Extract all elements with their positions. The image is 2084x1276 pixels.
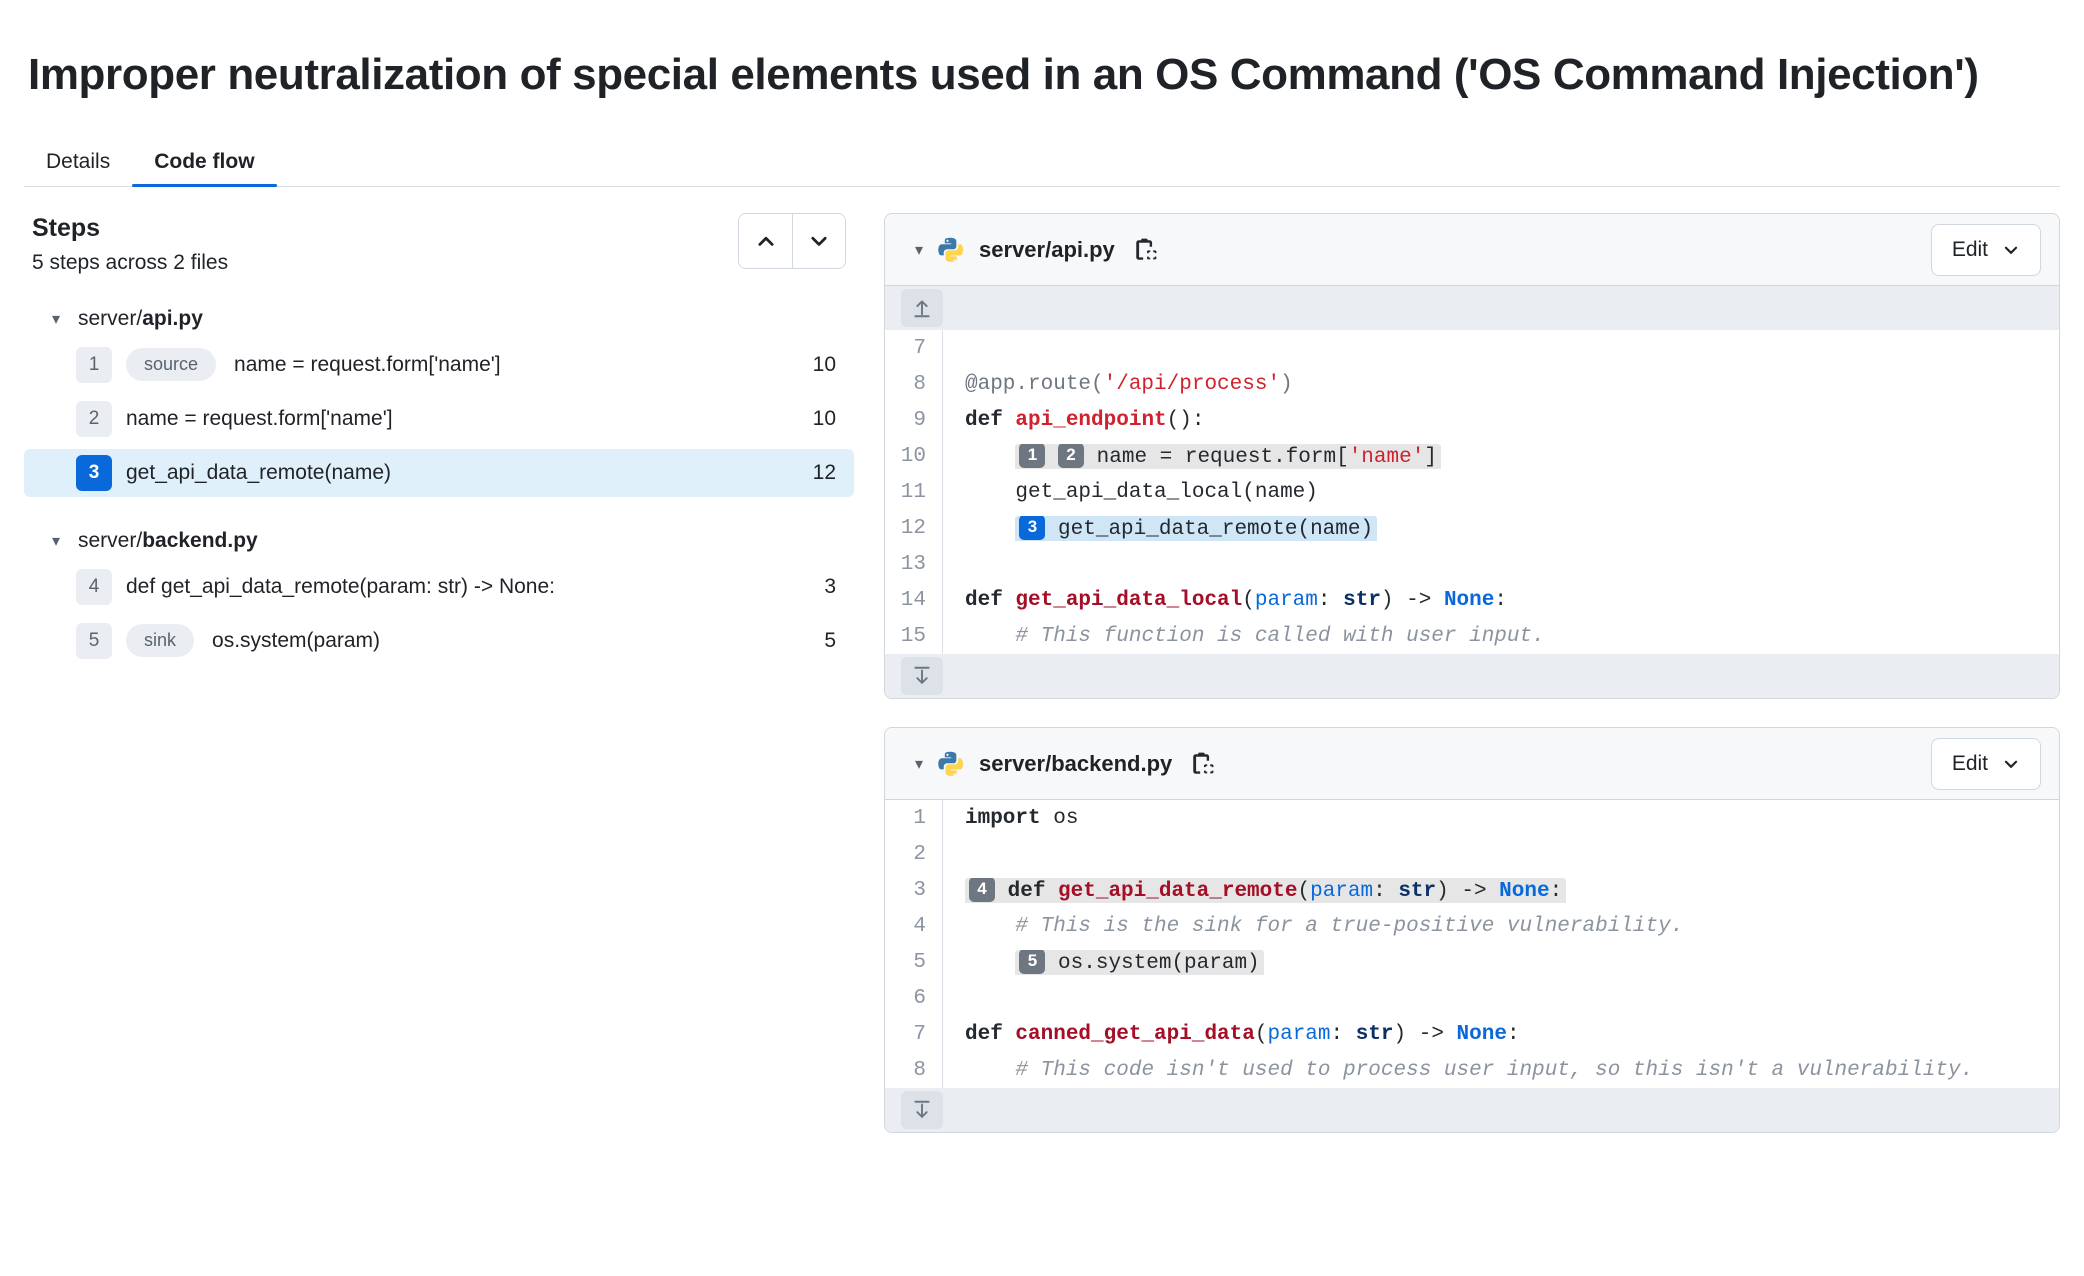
step-row[interactable]: 1 source name = request.form['name'] 10 — [24, 341, 854, 389]
scroll-to-top-icon — [911, 297, 933, 319]
code-line-step-5[interactable]: 5 5 os.system(param) — [885, 944, 2059, 980]
step-code-text: name = request.form['name'] — [126, 407, 801, 431]
step-row-selected[interactable]: 3 get_api_data_remote(name) 12 — [24, 449, 854, 497]
line-number: 7 — [885, 330, 943, 366]
steps-title: Steps — [32, 213, 228, 244]
step-file-header-api[interactable]: ▾ server/api.py — [24, 303, 854, 335]
line-number: 1 — [885, 800, 943, 836]
step-code-text: def get_api_data_remote(param: str) -> N… — [126, 575, 812, 599]
line-source: import os — [943, 807, 2059, 830]
line-number: 13 — [885, 546, 943, 582]
code-panel-header: ▾ server/backend.py Edit — [885, 728, 2059, 800]
step-badge-1: 1 — [1019, 444, 1045, 468]
code-line-step-4[interactable]: 34 def get_api_data_remote(param: str) -… — [885, 872, 2059, 908]
step-file-group: ▾ server/backend.py 4 def get_api_data_r… — [24, 525, 854, 665]
line-number: 12 — [885, 510, 943, 546]
scroll-down-strip — [885, 1088, 2059, 1132]
step-line-number: 10 — [801, 407, 836, 431]
code-line[interactable]: 11 get_api_data_local(name) — [885, 474, 2059, 510]
step-file-path: server/backend.py — [78, 529, 258, 553]
content-area: Steps 5 steps across 2 files — [0, 187, 2084, 1161]
scroll-up-strip — [885, 286, 2059, 330]
step-line-number: 12 — [801, 461, 836, 485]
code-line[interactable]: 2 — [885, 836, 2059, 872]
scroll-down-strip — [885, 654, 2059, 698]
chevron-down-icon: ▾ — [52, 309, 66, 329]
code-line[interactable]: 7 — [885, 330, 2059, 366]
scroll-to-bottom-icon — [911, 1099, 933, 1121]
code-line[interactable]: 14def get_api_data_local(param: str) -> … — [885, 582, 2059, 618]
line-number: 2 — [885, 836, 943, 872]
line-source: @app.route('/api/process') — [943, 373, 2059, 396]
copy-icon[interactable] — [1133, 237, 1159, 263]
line-source: # This code isn't used to process user i… — [943, 1059, 2059, 1082]
step-line-number: 10 — [801, 353, 836, 377]
steps-subtitle: 5 steps across 2 files — [32, 251, 228, 275]
scroll-to-bottom-button[interactable] — [901, 657, 943, 695]
step-tag-source: source — [126, 348, 216, 381]
code-line-step-1-2[interactable]: 10 1 2 name = request.form['name'] — [885, 438, 2059, 474]
line-number: 10 — [885, 438, 943, 474]
page-title: Improper neutralization of special eleme… — [0, 29, 2010, 103]
code-line[interactable]: 7def canned_get_api_data(param: str) -> … — [885, 1016, 2059, 1052]
step-code-text: os.system(param) — [212, 629, 812, 653]
step-file-path: server/api.py — [78, 307, 203, 331]
line-number: 4 — [885, 908, 943, 944]
step-number: 1 — [76, 347, 112, 383]
line-source: 3 get_api_data_remote(name) — [943, 516, 2059, 541]
line-number: 8 — [885, 1052, 943, 1088]
step-code-text: name = request.form['name'] — [234, 353, 801, 377]
step-number: 3 — [76, 455, 112, 491]
code-panel-filename: server/api.py — [979, 237, 1115, 263]
chevron-down-icon — [808, 230, 830, 252]
code-line[interactable]: 1import os — [885, 800, 2059, 836]
edit-button-label: Edit — [1952, 752, 1988, 776]
code-line[interactable]: 8@app.route('/api/process') — [885, 366, 2059, 402]
steps-header: Steps 5 steps across 2 files — [24, 213, 854, 274]
python-icon — [937, 750, 965, 778]
step-line-number: 3 — [812, 575, 836, 599]
line-source: # This function is called with user inpu… — [943, 625, 2059, 648]
code-lines-backend: 1import os 2 34 def get_api_data_remote(… — [885, 800, 2059, 1088]
line-source: # This is the sink for a true-positive v… — [943, 915, 2059, 938]
code-flow-page: Improper neutralization of special eleme… — [0, 29, 2084, 1276]
step-badge-3: 3 — [1019, 516, 1045, 540]
chevron-down-icon[interactable]: ▾ — [915, 754, 923, 774]
step-row[interactable]: 2 name = request.form['name'] 10 — [24, 395, 854, 443]
step-row[interactable]: 5 sink os.system(param) 5 — [24, 617, 854, 665]
line-number: 11 — [885, 474, 943, 510]
code-line[interactable]: 8 # This code isn't used to process user… — [885, 1052, 2059, 1088]
step-line-number: 5 — [812, 629, 836, 653]
scroll-to-top-button[interactable] — [901, 289, 943, 327]
line-source: def canned_get_api_data(param: str) -> N… — [943, 1023, 2059, 1046]
line-source: 5 os.system(param) — [943, 950, 2059, 975]
line-number: 9 — [885, 402, 943, 438]
copy-icon[interactable] — [1190, 751, 1216, 777]
step-tag-sink: sink — [126, 624, 194, 657]
code-panel-filename: server/backend.py — [979, 751, 1172, 777]
next-step-button[interactable] — [792, 214, 845, 268]
chevron-down-icon[interactable]: ▾ — [915, 240, 923, 260]
step-number: 2 — [76, 401, 112, 437]
line-number: 3 — [885, 872, 943, 908]
steps-panel: Steps 5 steps across 2 files — [24, 213, 854, 1161]
code-line[interactable]: 4 # This is the sink for a true-positive… — [885, 908, 2059, 944]
previous-step-button[interactable] — [739, 214, 792, 268]
edit-button[interactable]: Edit — [1931, 224, 2041, 276]
step-badge-4: 4 — [969, 878, 995, 902]
code-panels: ▾ server/api.py Edit — [884, 213, 2060, 1161]
line-number: 14 — [885, 582, 943, 618]
chevron-up-icon — [755, 230, 777, 252]
tab-code-flow[interactable]: Code flow — [132, 151, 276, 186]
python-icon — [937, 236, 965, 264]
code-line-step-3[interactable]: 12 3 get_api_data_remote(name) — [885, 510, 2059, 546]
step-number: 5 — [76, 623, 112, 659]
line-source: def api_endpoint(): — [943, 409, 2059, 432]
chevron-down-icon: ▾ — [52, 531, 66, 551]
line-number: 5 — [885, 944, 943, 980]
step-file-group: ▾ server/api.py 1 source name = request.… — [24, 303, 854, 497]
line-number: 15 — [885, 618, 943, 654]
code-panel-backend: ▾ server/backend.py Edit — [884, 727, 2060, 1133]
edit-button[interactable]: Edit — [1931, 738, 2041, 790]
step-file-header-backend[interactable]: ▾ server/backend.py — [24, 525, 854, 557]
line-number: 6 — [885, 980, 943, 1016]
line-number: 8 — [885, 366, 943, 402]
chevron-down-icon — [2002, 241, 2020, 259]
tab-bar: Details Code flow — [24, 133, 2060, 187]
step-badge-5: 5 — [1019, 950, 1045, 974]
chevron-down-icon — [2002, 755, 2020, 773]
code-line[interactable]: 9def api_endpoint(): — [885, 402, 2059, 438]
step-badge-2: 2 — [1058, 444, 1084, 468]
steps-header-text: Steps 5 steps across 2 files — [32, 213, 228, 274]
code-lines-api: 7 8@app.route('/api/process') 9def api_e… — [885, 330, 2059, 654]
code-line[interactable]: 6 — [885, 980, 2059, 1016]
line-number: 7 — [885, 1016, 943, 1052]
step-nav-buttons — [738, 213, 846, 269]
code-line[interactable]: 15 # This function is called with user i… — [885, 618, 2059, 654]
line-source: 4 def get_api_data_remote(param: str) ->… — [943, 878, 2059, 903]
line-source: get_api_data_local(name) — [943, 481, 2059, 504]
step-row[interactable]: 4 def get_api_data_remote(param: str) ->… — [24, 563, 854, 611]
code-line[interactable]: 13 — [885, 546, 2059, 582]
line-source: 1 2 name = request.form['name'] — [943, 444, 2059, 469]
tab-details[interactable]: Details — [24, 151, 132, 186]
edit-button-label: Edit — [1952, 238, 1988, 262]
line-source: def get_api_data_local(param: str) -> No… — [943, 589, 2059, 612]
scroll-to-bottom-icon — [911, 665, 933, 687]
scroll-to-bottom-button[interactable] — [901, 1091, 943, 1129]
code-panel-header: ▾ server/api.py Edit — [885, 214, 2059, 286]
step-number: 4 — [76, 569, 112, 605]
code-panel-api: ▾ server/api.py Edit — [884, 213, 2060, 699]
step-code-text: get_api_data_remote(name) — [126, 461, 801, 485]
